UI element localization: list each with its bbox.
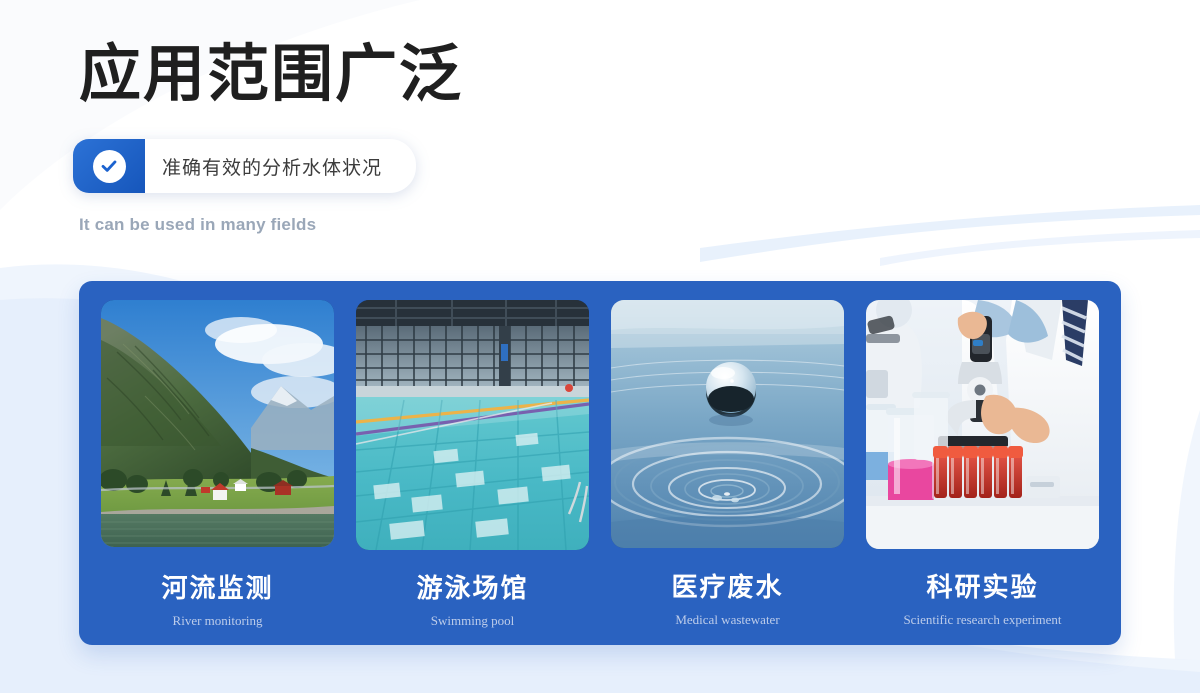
card-subtitle: Medical wastewater — [675, 612, 779, 628]
page-title: 应用范围广泛 — [79, 44, 779, 106]
indoor-swimming-pool-photo — [356, 300, 589, 550]
card-title: 医疗废水 — [671, 567, 783, 604]
card-river-monitoring[interactable]: 河流监测 River monitoring — [101, 300, 334, 645]
card-subtitle: River monitoring — [173, 613, 263, 629]
subtitle-pill: 准确有效的分析水体状况 — [144, 139, 416, 193]
subtitle-banner: 准确有效的分析水体状况 — [73, 139, 416, 193]
check-circle-icon — [93, 150, 126, 183]
card-subtitle: Scientific research experiment — [903, 612, 1061, 628]
card-subtitle: Swimming pool — [431, 613, 514, 629]
tagline: It can be used in many fields — [79, 215, 316, 235]
card-title: 游泳场馆 — [416, 568, 528, 605]
card-scientific-research[interactable]: 科研实验 Scientific research experiment — [866, 300, 1099, 645]
water-droplet-ripple-photo — [611, 300, 844, 548]
card-swimming-pool[interactable]: 游泳场馆 Swimming pool — [356, 300, 589, 645]
card-medical-wastewater[interactable]: 医疗废水 Medical wastewater — [611, 300, 844, 645]
subtitle-text: 准确有效的分析水体状况 — [162, 153, 382, 180]
laboratory-microscope-photo — [866, 300, 1099, 549]
application-cards-panel: 河流监测 River monitoring — [79, 281, 1121, 645]
card-title: 科研实验 — [926, 567, 1038, 604]
card-title: 河流监测 — [161, 568, 273, 605]
header: 应用范围广泛 — [79, 44, 779, 106]
check-badge — [73, 139, 145, 193]
river-fjord-photo — [101, 300, 334, 547]
